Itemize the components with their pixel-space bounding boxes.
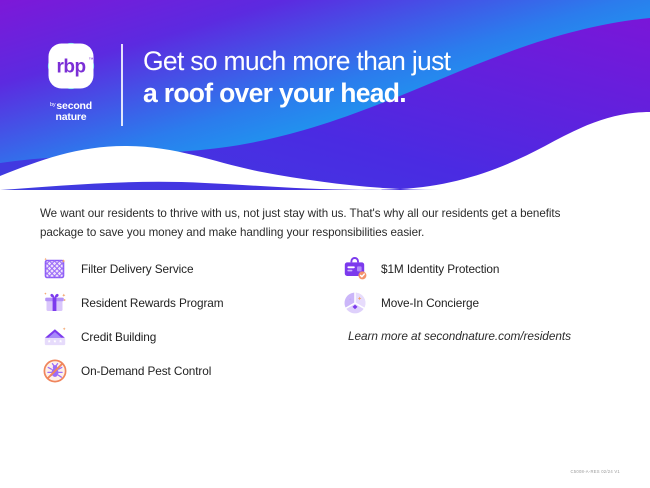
header-banner: rbp ™ bysecond nature Get so much more t… [0,0,650,190]
benefit-label: Resident Rewards Program [81,296,224,310]
benefit-label: Move-In Concierge [381,296,479,310]
rbp-logo-subtitle: bysecond nature [50,97,92,123]
logo-divider [121,44,123,126]
headline-line-1: Get so much more than just [143,46,450,77]
learn-more-text[interactable]: Learn more at secondnature.com/residents [348,329,610,343]
air-filter-icon [40,254,70,284]
benefit-label: $1M Identity Protection [381,262,499,276]
logo-by-text: by [50,102,55,108]
benefit-on-demand-pest-control: On-Demand Pest Control [40,354,340,388]
page-title: Get so much more than just a roof over y… [143,46,450,108]
benefit-filter-delivery-service: Filter Delivery Service [40,252,340,286]
benefit-identity-protection: $1M Identity Protection [340,252,610,286]
svg-text:™: ™ [89,57,94,63]
benefits-column-right: $1M Identity Protection [340,252,610,388]
benefits-column-left: Filter Delivery Service [40,252,340,388]
logo-word-nature: nature [50,112,92,123]
benefit-credit-building: Credit Building [40,320,340,354]
benefit-label: Credit Building [81,330,156,344]
benefit-resident-rewards-program: Resident Rewards Program [40,286,340,320]
document-code: C5008-A-RES 02/24 V1 [571,469,620,474]
intro-paragraph: We want our residents to thrive with us,… [40,205,605,243]
identity-wallet-icon [340,254,370,284]
benefit-label: On-Demand Pest Control [81,364,211,378]
benefit-move-in-concierge: Move-In Concierge [340,286,610,320]
rbp-logo: rbp ™ bysecond nature [37,38,105,123]
concierge-circle-icon [340,288,370,318]
gift-box-icon [40,288,70,318]
headline-line-2: a roof over your head. [143,78,450,109]
flyer-page: rbp ™ bysecond nature Get so much more t… [0,0,650,488]
svg-text:rbp: rbp [56,57,85,78]
credit-score-icon [40,322,70,352]
logo-word-second: second [56,100,92,112]
benefit-label: Filter Delivery Service [81,262,193,276]
benefits-section: Filter Delivery Service [40,252,610,388]
no-pest-icon [40,356,70,386]
rbp-logo-mark: rbp ™ [43,38,99,94]
